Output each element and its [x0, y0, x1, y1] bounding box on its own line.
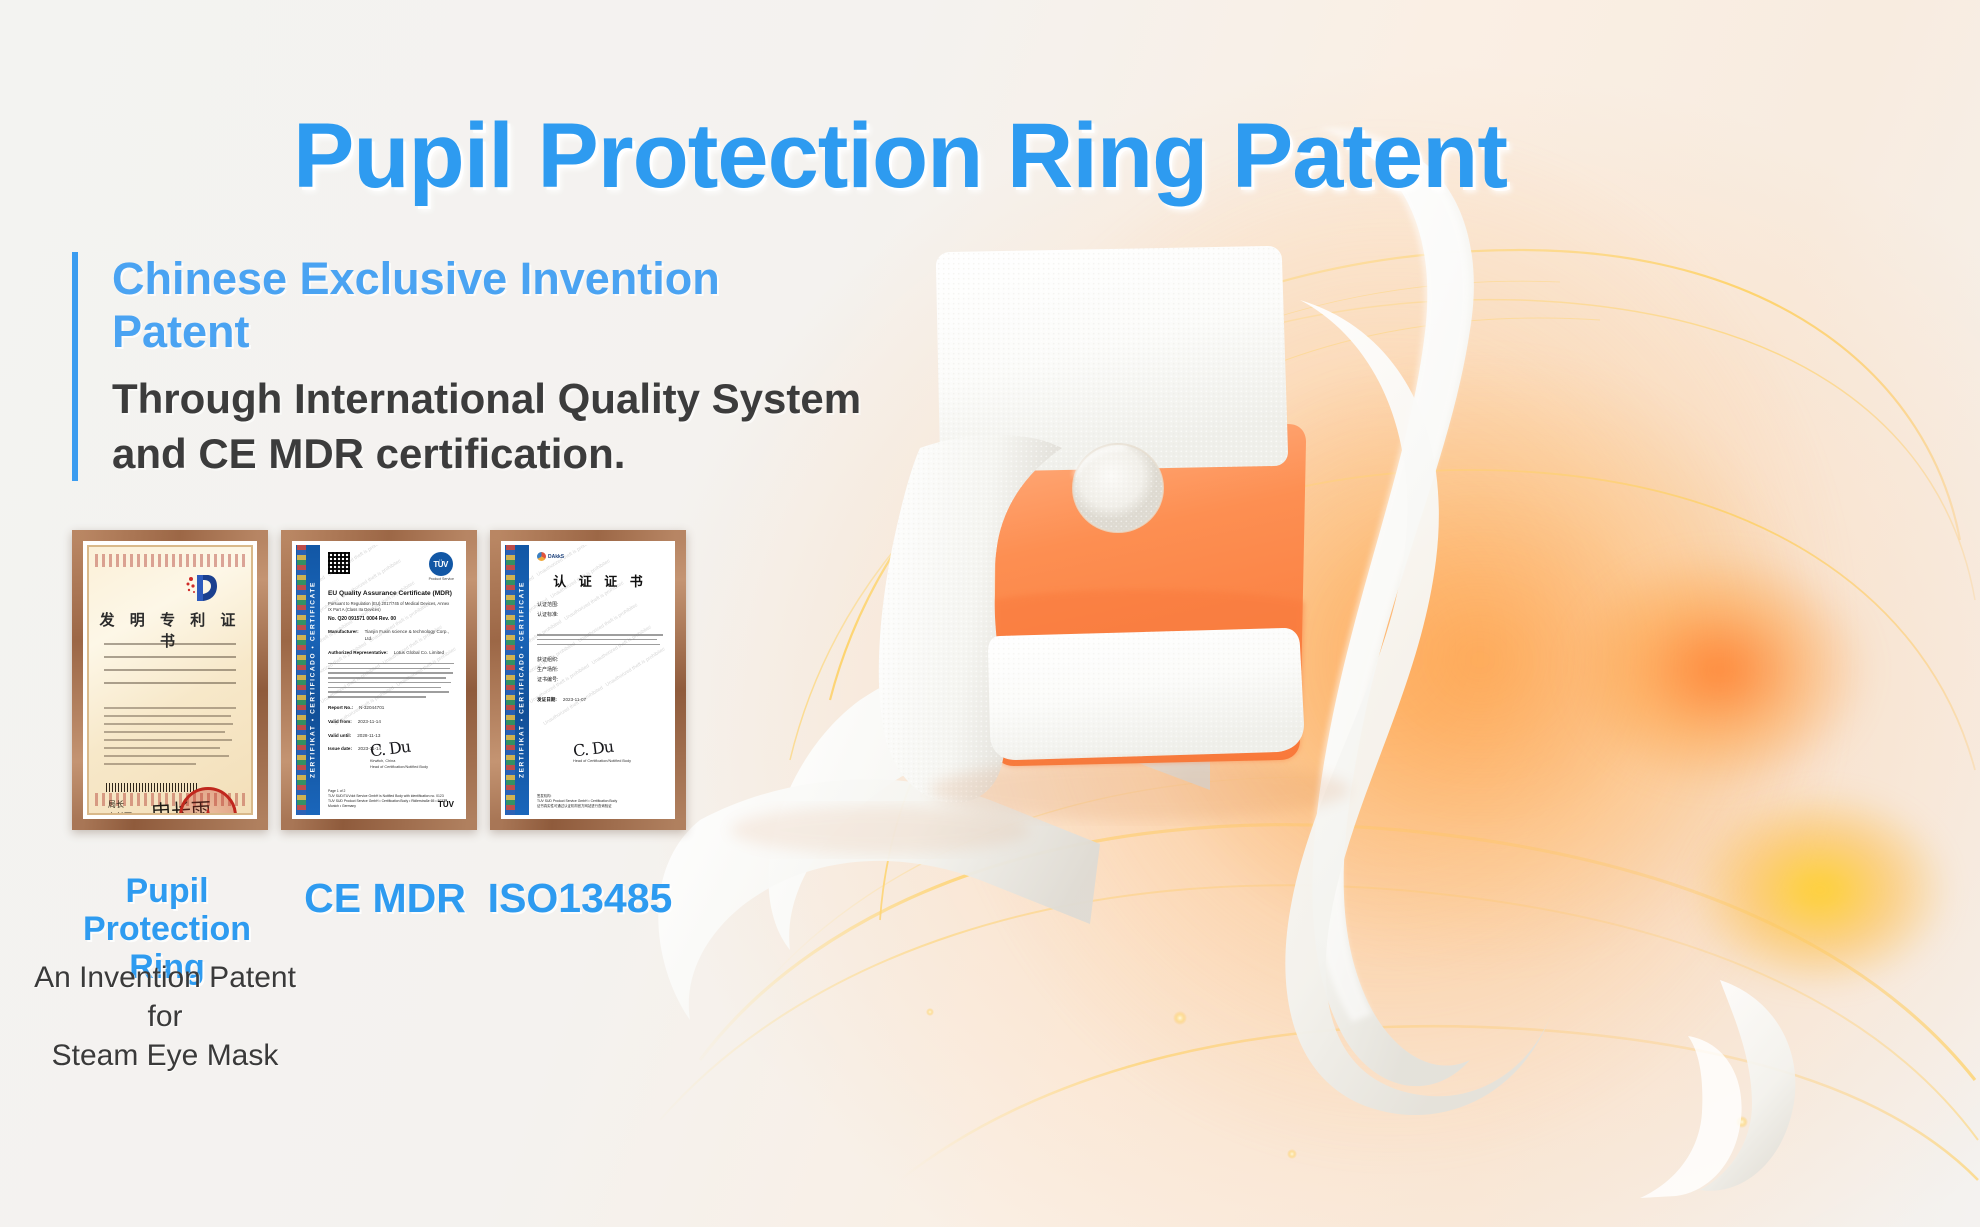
ce-document-subtitle: Pursuant to Regulation (EU) 2017/745 of … [328, 601, 454, 613]
ce-valid-from-label: Valid from: [328, 719, 352, 726]
caption-iso13485: ISO13485 [470, 876, 690, 922]
ce-rep-row: Authorized Representative: Lotus Global … [328, 650, 454, 657]
lead-text-block: Chinese Exclusive Invention Patent Throu… [72, 252, 832, 481]
tuv-seal-wrap: TÜV Product Service [429, 552, 454, 581]
ce-manufacturer-label: Manufacturer: [328, 629, 359, 643]
certificate-document-patent: 发 明 专 利 证 书 局长 专长雨 申长雨 [87, 545, 253, 815]
iso-footer: 签发机构: TUV SUD Product Service GmbH • Cer… [537, 794, 663, 809]
accreditation-logo: DAkkS [537, 552, 663, 561]
spine-label: ZERTIFIKAT • CERTIFICADO • CERTIFICATE [515, 545, 529, 815]
certificate-document-iso13485: ZERTIFIKAT • CERTIFICADO • CERTIFICATE U… [505, 545, 671, 815]
iso-scope-label: 认证范围: [537, 600, 663, 610]
dakks-mark-icon [537, 552, 546, 561]
patent-field-lines [104, 643, 236, 695]
certificate-body: Unauthorized theft is prohibited Unautho… [320, 545, 462, 815]
patent-signature-label: 局长 专长雨 [108, 799, 132, 815]
spine-flags-decoration [297, 545, 306, 815]
ce-report-row: Report No.: N-32044701 [328, 705, 454, 712]
ce-footer: Page 1 of 2 TUV SUD/TUVdot Service GmbH … [328, 789, 454, 809]
ce-report-label: Report No.: [328, 705, 353, 712]
iso-signature-block: C. Du Head of Certification/Notified Bod… [573, 738, 631, 763]
lead-headline: Chinese Exclusive Invention Patent [112, 252, 832, 358]
certificate-spine: ZERTIFIKAT • CERTIFICADO • CERTIFICATE [505, 545, 529, 815]
ornament-top [95, 554, 245, 567]
marketing-banner: Pupil Protection Ring Patent Chinese Exc… [0, 0, 1980, 1227]
ce-valid-from-value: 2023-11-14 [358, 719, 381, 726]
sub-caption-line-2: Steam Eye Mask [30, 1036, 300, 1075]
iso-issue-row: 发证日期: 2023-11-07 [537, 697, 663, 704]
iso-issue-value: 2023-11-07 [563, 697, 586, 704]
patent-sign-label-2: 专长雨 [108, 812, 132, 815]
lead-line-2: and CE MDR certification. [112, 427, 832, 482]
certificate-header: TÜV Product Service [328, 552, 454, 581]
ce-manufacturer-row: Manufacturer: Tianjin Fuxin science & te… [328, 629, 454, 643]
iso-footer-line-3: 证书真实性可通过认证机构官方网站进行查询验证 [537, 804, 663, 809]
certificate-document-ce-mdr: ZERTIFIKAT • CERTIFICADO • CERTIFICATE U… [296, 545, 462, 815]
patent-barcode [106, 783, 198, 792]
iso-site-label: 生产场所: [537, 665, 663, 675]
qr-code-icon [328, 552, 350, 574]
ce-valid-from-row: Valid from: 2023-11-14 [328, 719, 454, 726]
certificate-card-patent[interactable]: 发 明 专 利 证 书 局长 专长雨 申长雨 [72, 530, 268, 830]
caption-ce-mdr: CE MDR [285, 876, 485, 922]
iso-issue-label: 发证日期: [537, 697, 557, 704]
lead-line-1: Through International Quality System [112, 372, 832, 427]
ce-manufacturer-value: Tianjin Fuxin science & technology Corp.… [365, 629, 454, 643]
iso-standard-label: 认证标准: [537, 610, 663, 620]
ce-handwritten-signature: C. Du [369, 735, 429, 761]
ce-body-filler-lines [328, 663, 454, 698]
ce-valid-until-label: Valid until: [328, 733, 351, 740]
ce-issue-label: Issue date: [328, 746, 352, 753]
sub-caption-line-1: An Invention Patent for [30, 958, 300, 1036]
spine-label: ZERTIFIKAT • CERTIFICADO • CERTIFICATE [306, 545, 320, 815]
iso-handwritten-signature: C. Du [572, 735, 632, 761]
spine-flags-decoration [506, 545, 515, 815]
ce-signature-caption-2: Head of Certification/Notified Body [370, 765, 428, 769]
tuv-seal-icon: TÜV [429, 552, 453, 576]
ce-document-title: EU Quality Assurance Certificate (MDR) [328, 590, 454, 599]
certificate-gallery: 发 明 专 利 证 书 局长 专长雨 申长雨 [72, 530, 686, 830]
ce-signature-block: C. Du Kirwitch, China Head of Certificat… [370, 738, 428, 769]
patent-body-paragraph [104, 707, 236, 771]
iso-body-filler-lines [537, 634, 663, 645]
iso-document-heading: 认 证 证 书 [537, 571, 663, 590]
ce-footer-line-2: TUV SUD Product Service GmbH • Certifica… [328, 799, 454, 809]
patent-emblem-icon [185, 573, 219, 603]
ce-report-value: N-32044701 [359, 705, 384, 712]
ce-signature-caption-1: Kirwitch, China [370, 759, 428, 763]
tuv-seal-label: Product Service [429, 577, 454, 581]
iso-field-list: 认证范围: 认证标准: [537, 600, 663, 620]
accreditation-label: DAkkS [548, 554, 564, 560]
iso-cert-no-label: 证书编号: [537, 675, 663, 685]
ce-rep-value: Lotus Global Co. Limited [394, 650, 444, 657]
certificate-body: Unauthorized theft is prohibited Unautho… [529, 545, 671, 815]
sub-caption-block: An Invention Patent for Steam Eye Mask [30, 958, 300, 1075]
page-title: Pupil Protection Ring Patent [0, 104, 1980, 209]
certificate-spine: ZERTIFIKAT • CERTIFICADO • CERTIFICATE [296, 545, 320, 815]
iso-org-label: 获证组织: [537, 655, 663, 665]
patent-sign-label-1: 局长 [108, 800, 124, 809]
ce-rep-label: Authorized Representative: [328, 650, 388, 657]
certificate-card-iso13485[interactable]: ZERTIFIKAT • CERTIFICADO • CERTIFICATE U… [490, 530, 686, 830]
iso-signature-caption: Head of Certification/Notified Body [573, 759, 631, 763]
certificate-card-ce-mdr[interactable]: ZERTIFIKAT • CERTIFICADO • CERTIFICATE U… [281, 530, 477, 830]
ce-certificate-number: No. Q20 091571 0004 Rev. 00 [328, 616, 454, 622]
background-yellow-hotspot [1640, 740, 1980, 1040]
ce-footer-logo: TÜV [438, 800, 454, 809]
iso-field-list-2: 获证组织: 生产场所: 证书编号: [537, 655, 663, 685]
